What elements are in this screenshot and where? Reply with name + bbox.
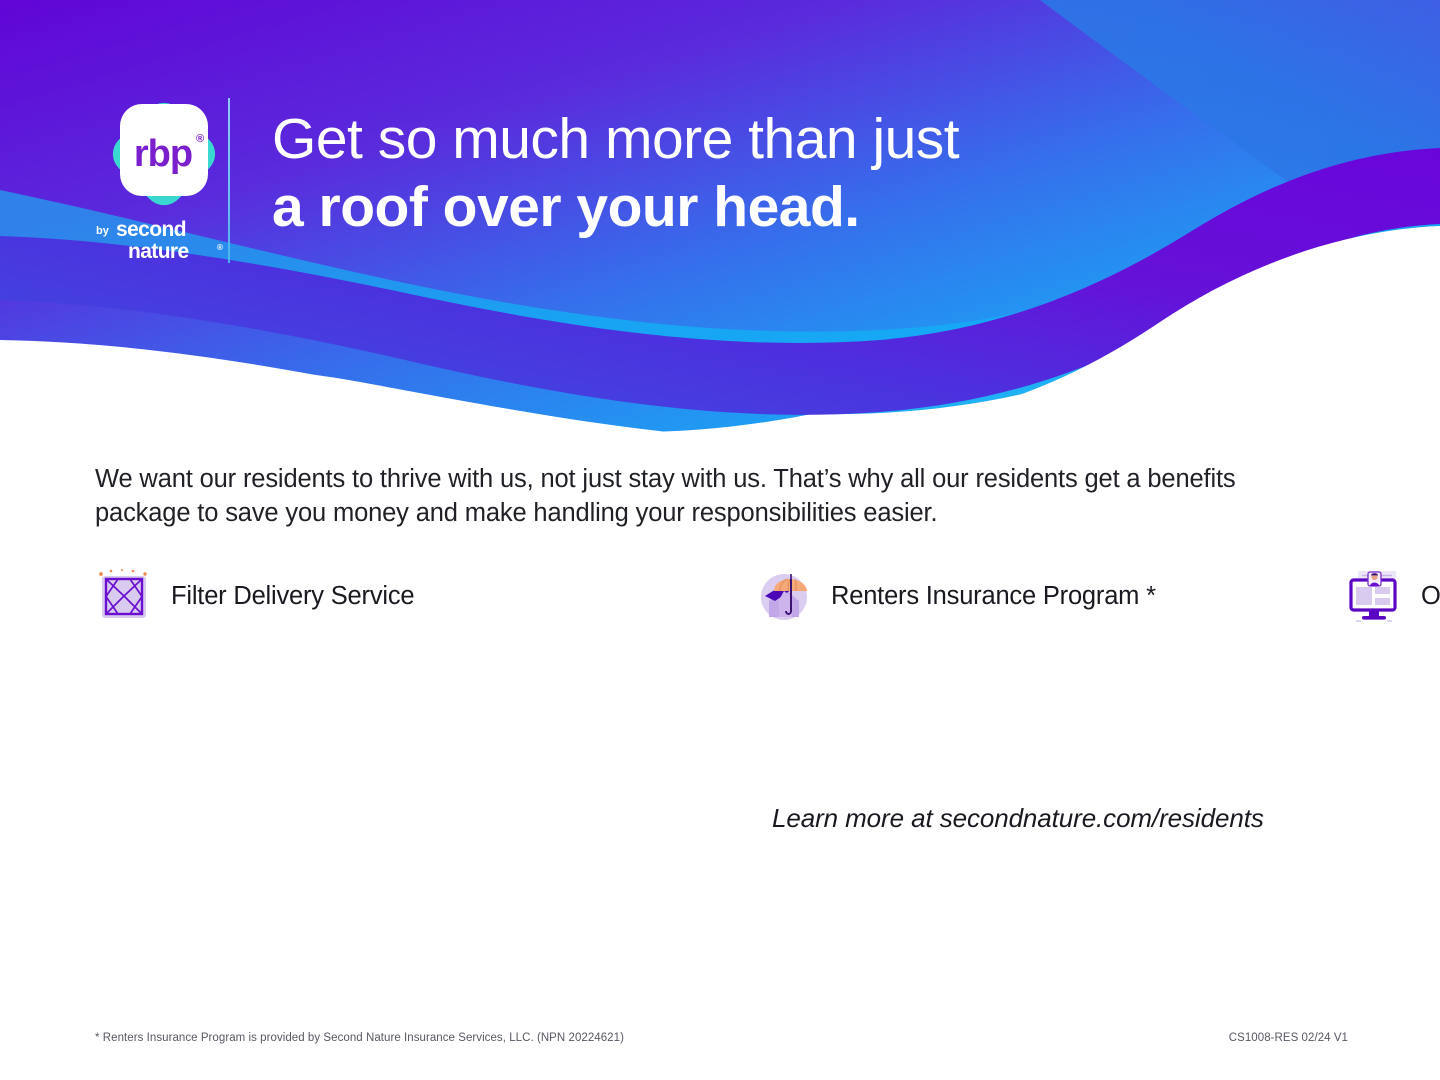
benefits-list: Filter Delivery Service Renters Insuranc… [95,558,1345,634]
rbp-badge-icon: rbp ® [106,96,222,212]
air-filter-icon [95,567,153,625]
second-nature-wordmark: by second nature ® [88,214,248,266]
logo-divider-rule [228,98,230,263]
benefit-item-online-portal: Online Portal [1345,558,1440,634]
benefit-label: Online Portal [1421,582,1440,611]
umbrella-house-icon [755,567,813,625]
brand-logo-lockup: rbp ® by second nature ® [88,96,248,264]
learn-more-text: Learn more at secondnature.com/residents [772,803,1264,834]
desktop-monitor-icon [1345,567,1403,625]
benefit-label: Filter Delivery Service [171,582,414,611]
document-code: CS1008-RES 02/24 V1 [1229,1032,1348,1044]
benefit-item-renters-insurance: Renters Insurance Program * [755,558,1345,634]
intro-paragraph: We want our residents to thrive with us,… [95,462,1310,530]
headline-line-2: a roof over your head. [272,172,959,242]
badge-registered-mark: ® [196,133,204,145]
badge-rbp-text: rbp [134,133,192,175]
benefit-item-filter-delivery: Filter Delivery Service [95,558,755,634]
footnote-disclaimer: * Renters Insurance Program is provided … [95,1032,624,1044]
wordmark-registered-mark: ® [217,243,223,252]
wordmark-second: second [116,218,186,241]
page-title: Get so much more than just a roof over y… [272,104,959,242]
wordmark-nature: nature [128,240,189,263]
benefit-label: Renters Insurance Program * [831,582,1156,611]
headline-line-1: Get so much more than just [272,104,959,174]
wordmark-by: by [96,225,110,237]
